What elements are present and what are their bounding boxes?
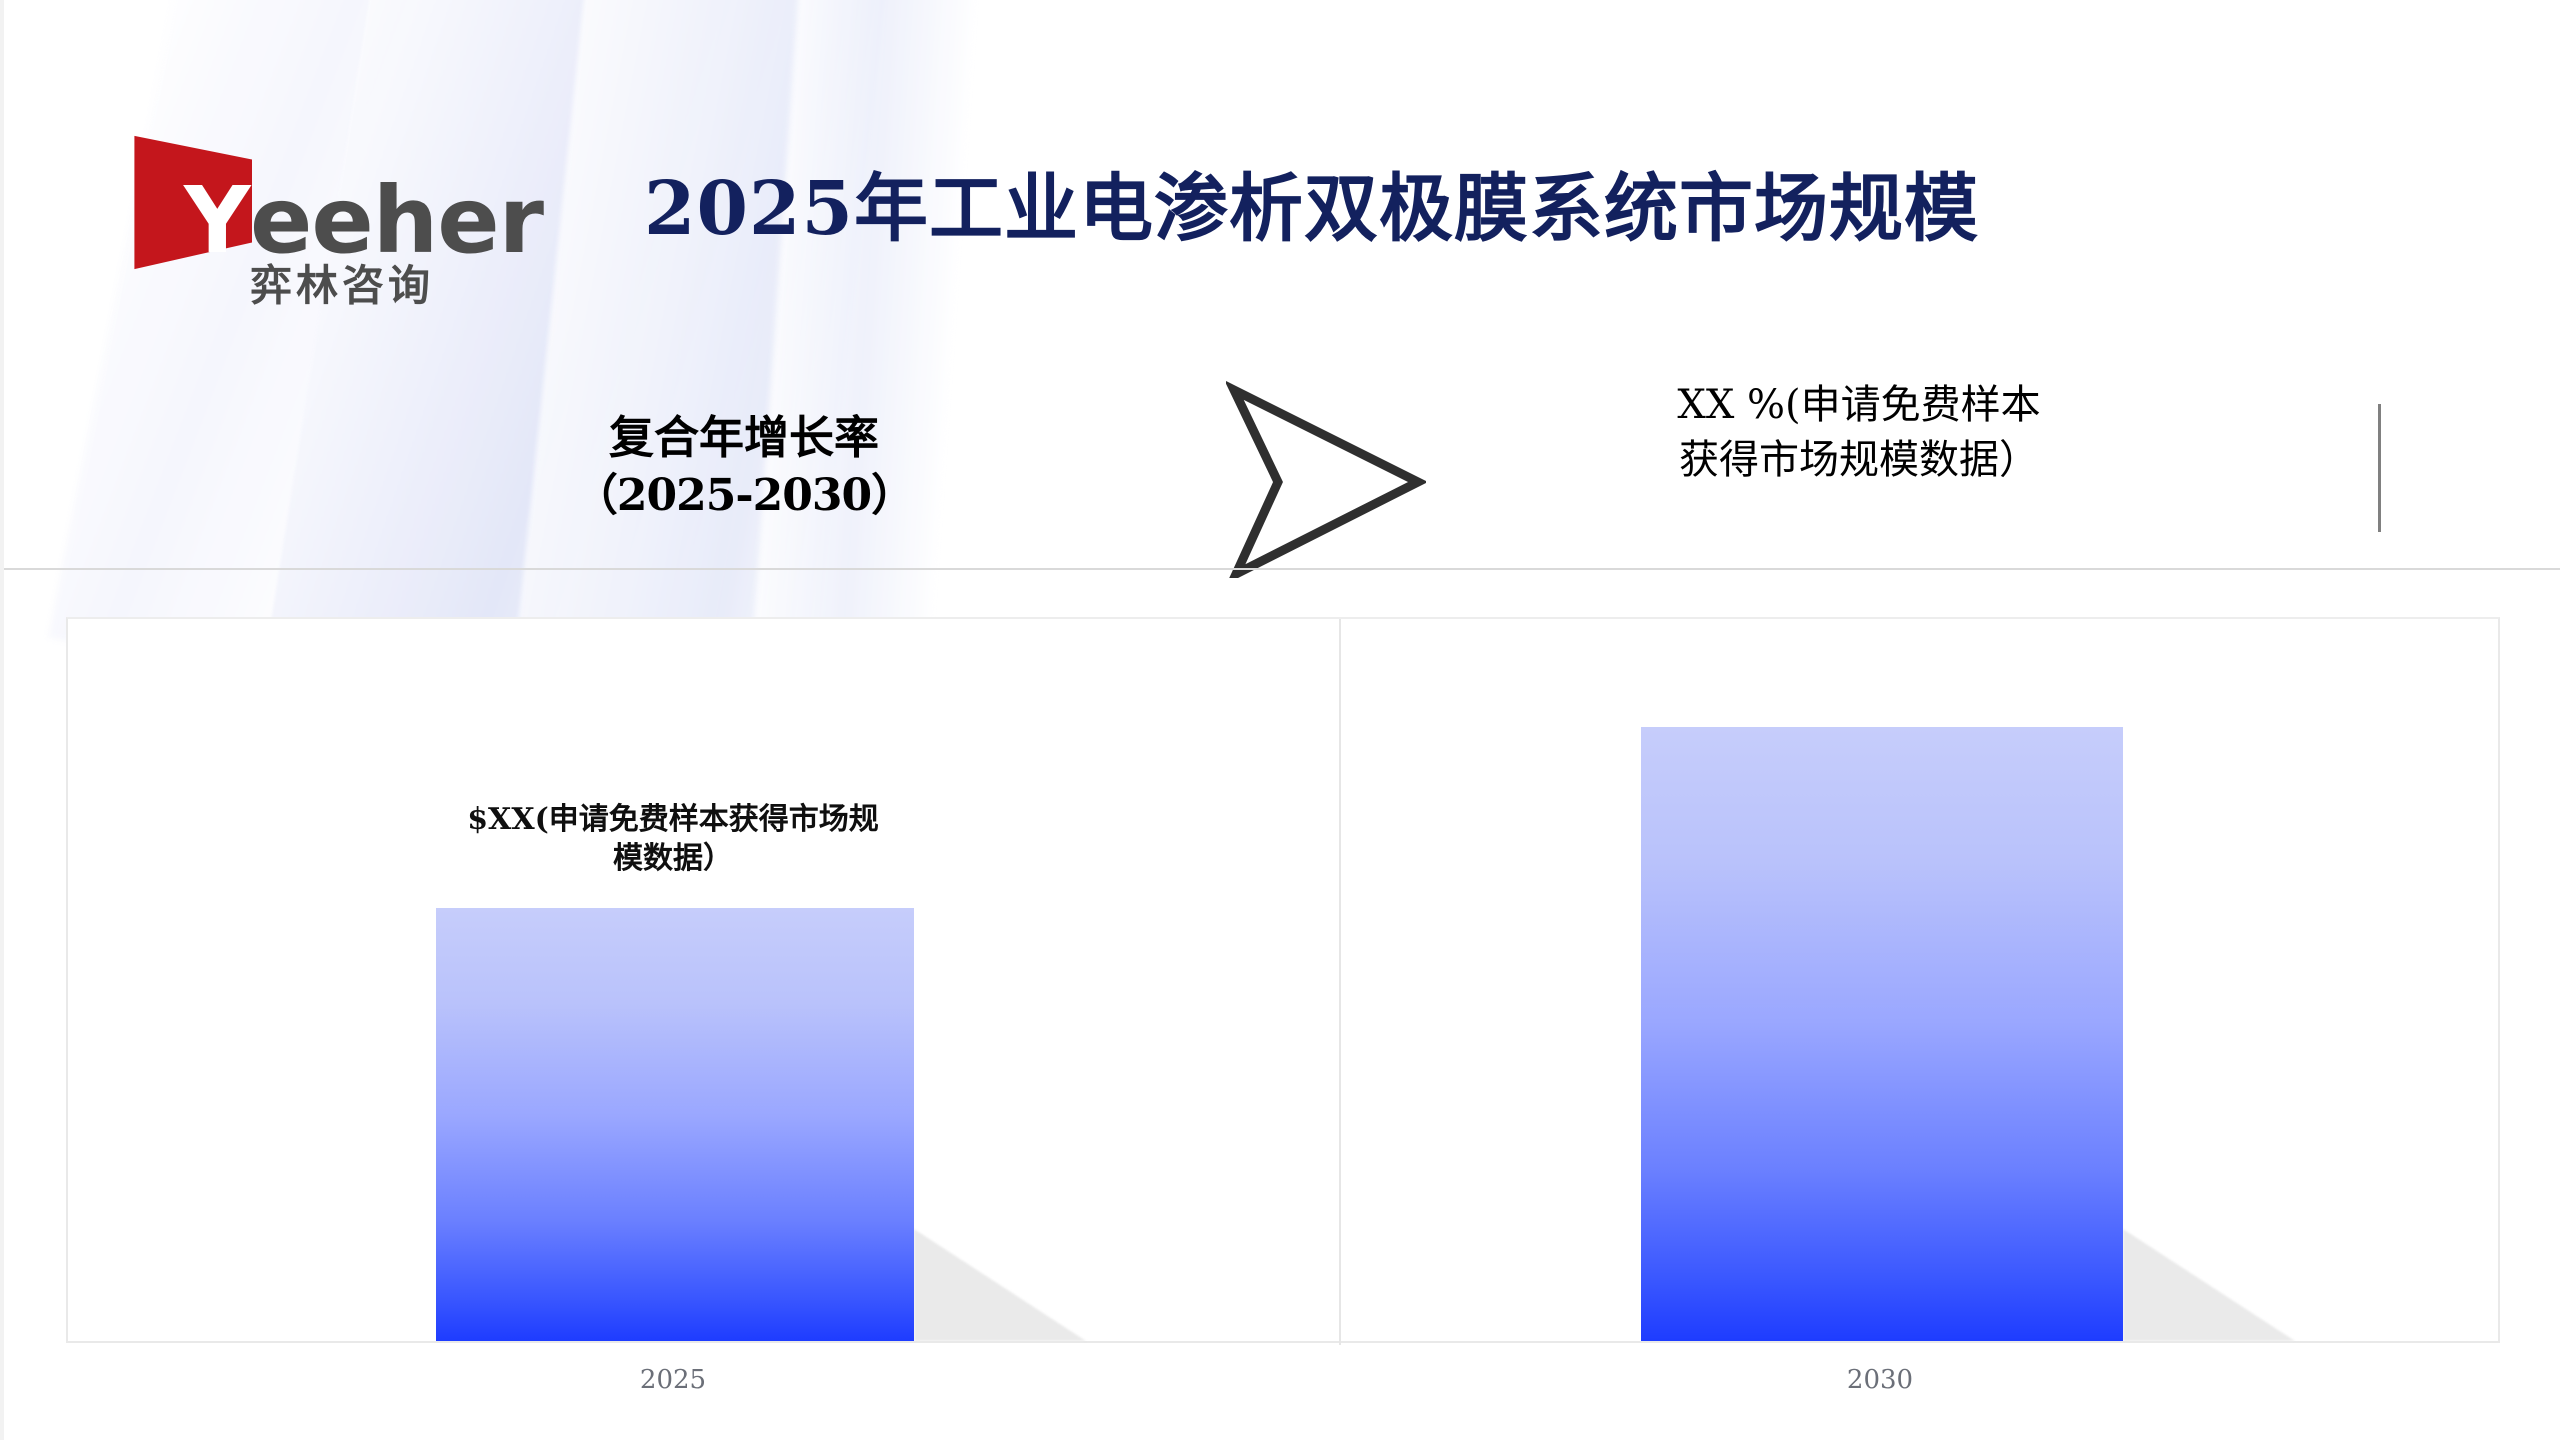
- header-right-rule: [2378, 404, 2381, 532]
- logo-chinese-name: 弈林咨询: [250, 265, 434, 307]
- bar-fill-2030: [1641, 727, 2123, 1341]
- logo-wordmark: eeher: [250, 175, 543, 267]
- bar-fill-2025: [436, 908, 914, 1341]
- brand-logo: Y eeher 弈林咨询: [132, 115, 492, 300]
- bar-2030[interactable]: [1641, 727, 2123, 1341]
- cagr-label-line2: （2025-2030）: [544, 467, 944, 525]
- page-title: 2025年工业电渗析双极膜系统市场规模: [644, 168, 2144, 251]
- slide-canvas: Y eeher 弈林咨询 2025年工业电渗析双极膜系统市场规模 复合年增长率 …: [0, 0, 2560, 1440]
- arrow-right-outline-icon: [1226, 378, 1426, 578]
- bar-2025[interactable]: [436, 908, 914, 1341]
- cagr-value-line2: 获得市场规模数据）: [1624, 433, 2094, 488]
- x-axis-tick-2025: 2025: [434, 1365, 912, 1395]
- chart-center-divider: [1339, 619, 1341, 1345]
- x-axis-tick-2030: 2030: [1639, 1365, 2121, 1395]
- cagr-value: XX %(申请免费样本 获得市场规模数据）: [1624, 378, 2094, 488]
- bar-chart-panel: [66, 617, 2500, 1343]
- bar-value-label-2025-line1: $XX(申请免费样本获得市场规: [414, 800, 932, 839]
- cagr-label-line1: 复合年增长率: [544, 408, 944, 467]
- logo-letter: Y: [184, 175, 249, 267]
- bar-value-label-2025: $XX(申请免费样本获得市场规 模数据）: [414, 800, 932, 878]
- bar-value-label-2025-line2: 模数据）: [414, 839, 932, 878]
- background-swoosh-left-icon: [48, 0, 460, 687]
- header-divider: [4, 568, 2560, 570]
- cagr-value-line1: XX %(申请免费样本: [1624, 378, 2094, 433]
- bar-shadow-2025: [914, 1229, 1086, 1341]
- background-swoosh-far-icon: [749, 0, 998, 705]
- bar-shadow-2030: [2123, 1229, 2295, 1341]
- cagr-label: 复合年增长率 （2025-2030）: [544, 408, 944, 525]
